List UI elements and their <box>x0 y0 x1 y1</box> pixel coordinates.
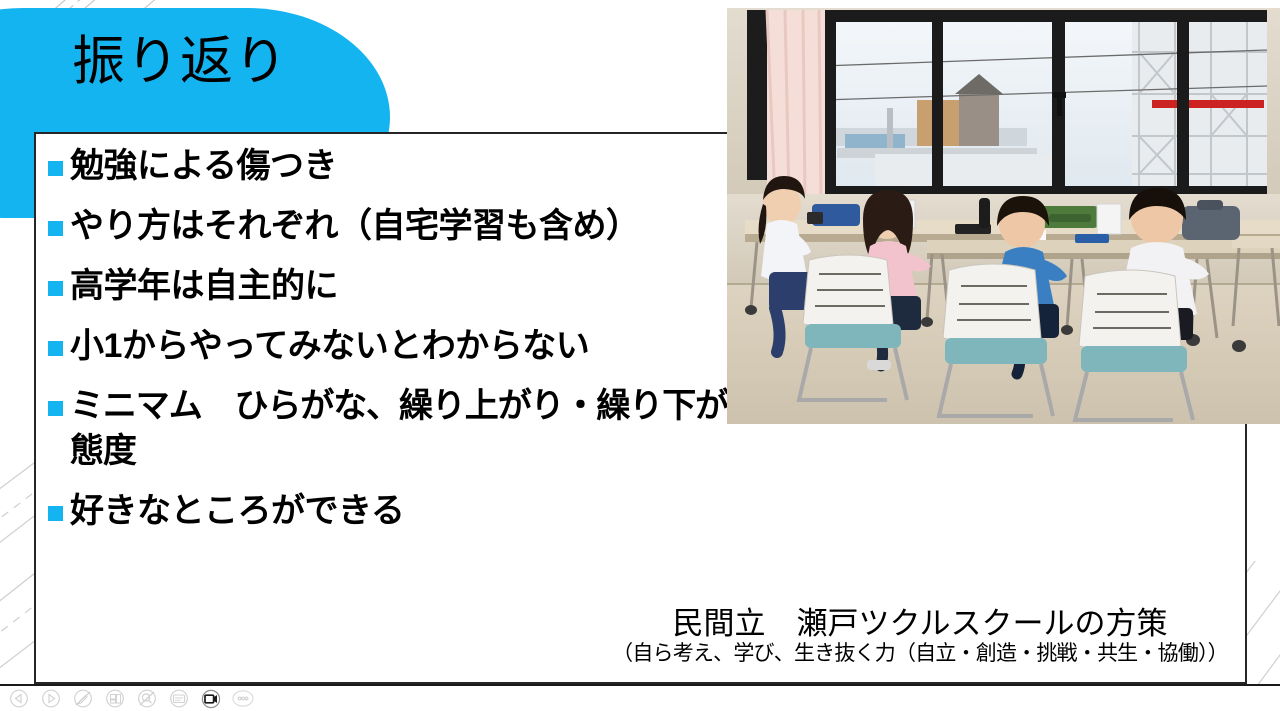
slide-grid-icon <box>104 689 126 708</box>
caption: 民間立 瀬戸ツクルスクールの方策 （自ら考え、学び、生き抜く力（自立・創造・挑戦… <box>600 607 1240 666</box>
more-options-button[interactable] <box>228 688 258 709</box>
square-bullet-icon <box>48 161 63 176</box>
page-title: 振り返り <box>72 32 288 93</box>
square-bullet-icon <box>48 341 63 356</box>
square-bullet-icon <box>48 281 63 296</box>
previous-slide-button[interactable] <box>4 688 34 709</box>
square-bullet-icon <box>48 506 63 521</box>
title-speech-bubble-tail <box>332 88 368 136</box>
zoom-off-icon <box>136 689 158 708</box>
subtitles-icon <box>168 689 190 708</box>
next-slide-icon <box>40 689 62 708</box>
pen-off-icon <box>72 689 94 708</box>
all-slides-button[interactable] <box>100 688 130 709</box>
pen-toggle-button[interactable] <box>68 688 98 709</box>
slideshow-toolbar <box>0 684 1280 711</box>
list-item: 好きなところができる <box>48 489 1238 535</box>
caption-sub-text: （自ら考え、学び、生き抜く力（自立・創造・挑戦・共生・協働）） <box>600 642 1240 666</box>
next-slide-button[interactable] <box>36 688 66 709</box>
previous-slide-icon <box>8 689 30 708</box>
video-camera-icon <box>199 689 223 709</box>
square-bullet-icon <box>48 401 63 416</box>
list-item-label: 好きなところができる <box>70 489 1238 535</box>
zoom-toggle-button[interactable] <box>132 688 162 709</box>
caption-main-text: 民間立 瀬戸ツクルスクールの方策 <box>600 607 1240 642</box>
camera-button[interactable] <box>196 688 226 709</box>
classroom-photo <box>727 8 1280 424</box>
more-options-icon <box>231 689 255 708</box>
classroom-photo-illustration <box>727 8 1280 424</box>
presentation-slide: 振り返り 勉強による傷つき やり方はそれぞれ（自宅学習も含め） 高学年は自主的に… <box>0 0 1280 711</box>
subtitles-button[interactable] <box>164 688 194 709</box>
square-bullet-icon <box>48 221 63 236</box>
